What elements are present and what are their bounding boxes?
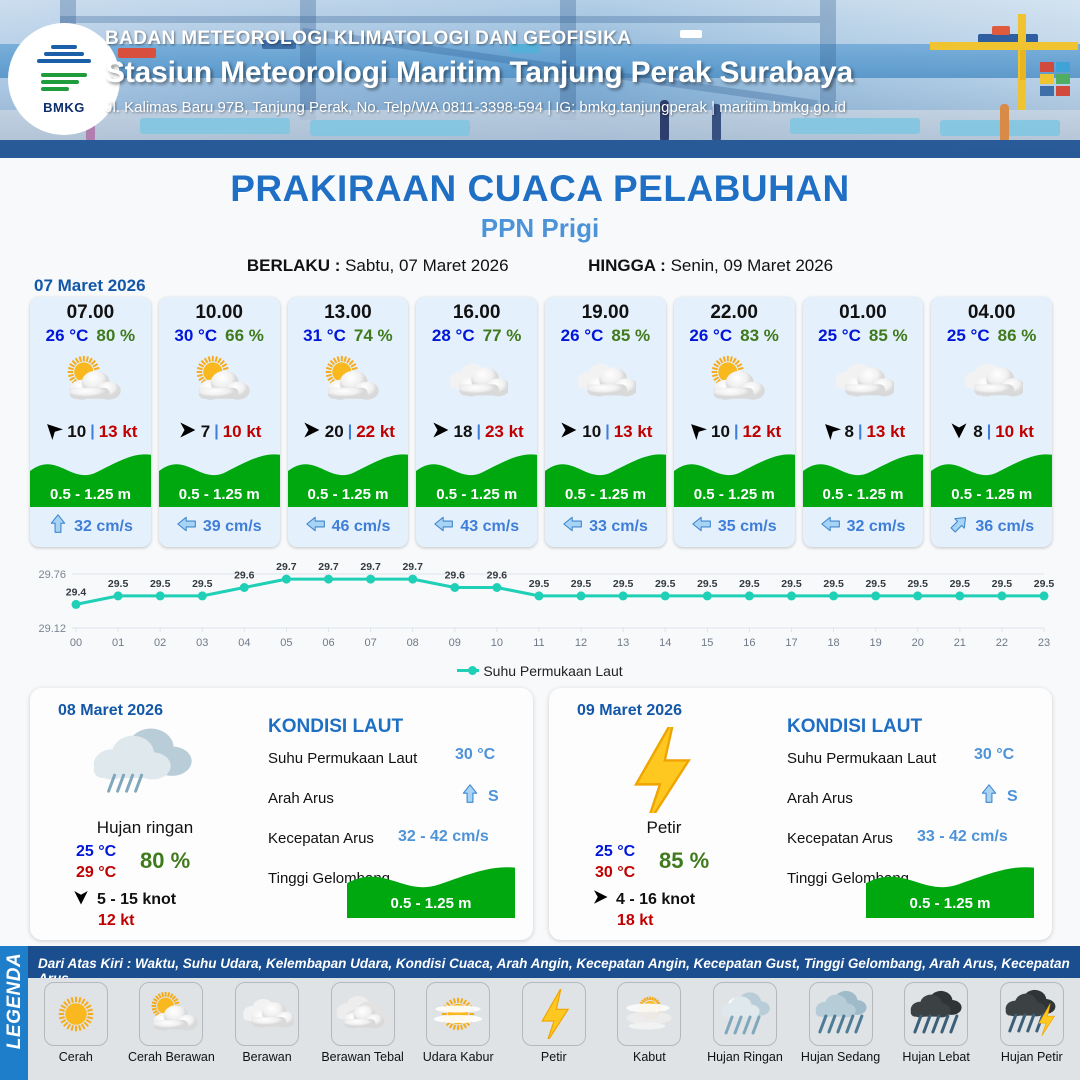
card-wind-speed: 20 bbox=[325, 422, 344, 442]
card-wave-height: 0.5 - 1.25 m bbox=[803, 486, 924, 503]
card-weather-cerah-berawan-icon bbox=[30, 350, 151, 412]
sea-row-label: Suhu Permukaan Laut bbox=[268, 750, 417, 767]
wind-direction-arrow-icon bbox=[177, 420, 197, 445]
header-container bbox=[1056, 86, 1070, 96]
svg-text:16: 16 bbox=[743, 637, 755, 649]
svg-text:15: 15 bbox=[701, 637, 713, 649]
svg-text:29.5: 29.5 bbox=[1034, 578, 1055, 590]
day-gust: 18 kt bbox=[617, 912, 653, 930]
card-temperature: 26 °C bbox=[46, 326, 89, 346]
header-seating bbox=[140, 118, 290, 134]
svg-text:29.7: 29.7 bbox=[318, 561, 339, 573]
day-current-direction-arrow-icon bbox=[979, 784, 999, 809]
svg-text:07: 07 bbox=[364, 637, 376, 649]
svg-text:22: 22 bbox=[996, 637, 1008, 649]
legend-berawan-tebal-icon bbox=[331, 982, 395, 1046]
card-weather-cerah-berawan-icon bbox=[674, 350, 795, 412]
legend-item[interactable]: Berawan bbox=[219, 982, 315, 1064]
svg-text:29.5: 29.5 bbox=[950, 578, 971, 590]
day-wave-height: 0.5 - 1.25 m bbox=[347, 895, 515, 912]
card-separator: | bbox=[476, 423, 480, 441]
header-person bbox=[1000, 104, 1009, 140]
sea-conditions-title: KONDISI LAUT bbox=[787, 716, 922, 738]
legend-hujan-lebat-icon bbox=[904, 982, 968, 1046]
card-wave-height: 0.5 - 1.25 m bbox=[416, 486, 537, 503]
legend-item-label: Hujan Ringan bbox=[707, 1050, 783, 1064]
legend-item[interactable]: Hujan Petir bbox=[984, 982, 1080, 1064]
legend-item-label: Udara Kabur bbox=[423, 1050, 494, 1064]
title-block: PRAKIRAAN CUACA PELABUHAN PPN Prigi BERL… bbox=[0, 168, 1080, 276]
svg-text:29.5: 29.5 bbox=[655, 578, 676, 590]
card-gust-speed: 10 kt bbox=[223, 422, 262, 442]
wind-direction-arrow-icon bbox=[821, 420, 841, 445]
card-current-speed: 33 cm/s bbox=[589, 518, 648, 536]
legend-item[interactable]: Kabut bbox=[602, 982, 698, 1064]
day-date: 09 Maret 2026 bbox=[577, 702, 682, 720]
card-time: 10.00 bbox=[159, 302, 280, 324]
legenda-sidebar-label: LEGENDA bbox=[4, 946, 26, 1056]
card-wave-height: 0.5 - 1.25 m bbox=[674, 486, 795, 503]
card-wind-speed: 10 bbox=[711, 422, 730, 442]
card-gust-speed: 22 kt bbox=[356, 422, 395, 442]
header-container bbox=[1040, 86, 1054, 96]
svg-text:09: 09 bbox=[449, 637, 461, 649]
legend-item-label: Cerah Berawan bbox=[128, 1050, 215, 1064]
forecast-card[interactable]: 01.00 25 °C 85 % 8 | 13 kt 0.5 bbox=[803, 297, 924, 547]
legend-item-label: Hujan Lebat bbox=[902, 1050, 969, 1064]
legend-item[interactable]: Udara Kabur bbox=[410, 982, 506, 1064]
bmkg-logo-leaf-icon bbox=[37, 72, 91, 98]
card-weather-berawan-icon bbox=[803, 350, 924, 412]
svg-text:08: 08 bbox=[407, 637, 419, 649]
svg-text:29.5: 29.5 bbox=[697, 578, 718, 590]
sea-row-label: Arah Arus bbox=[268, 790, 334, 807]
card-time: 04.00 bbox=[931, 302, 1052, 324]
day-temp-min: 25 °C bbox=[76, 843, 116, 861]
card-wind-speed: 10 bbox=[582, 422, 601, 442]
day-condition: Petir bbox=[569, 818, 759, 838]
header-seating bbox=[790, 118, 920, 134]
current-direction-arrow-icon bbox=[306, 514, 326, 539]
card-wind-speed: 8 bbox=[845, 422, 854, 442]
chart-legend: Suhu Permukaan Laut bbox=[0, 662, 1080, 680]
card-separator: | bbox=[90, 423, 94, 441]
card-wave-height: 0.5 - 1.25 m bbox=[545, 486, 666, 503]
card-separator: | bbox=[734, 423, 738, 441]
current-direction-arrow-icon bbox=[563, 514, 583, 539]
card-time: 22.00 bbox=[674, 302, 795, 324]
card-temperature: 25 °C bbox=[818, 326, 861, 346]
card-gust-speed: 23 kt bbox=[485, 422, 524, 442]
day-wind-direction-arrow-icon bbox=[72, 888, 90, 911]
wind-direction-arrow-icon bbox=[301, 420, 321, 445]
header-container bbox=[1040, 74, 1054, 84]
svg-text:29.5: 29.5 bbox=[192, 578, 213, 590]
bmkg-logo: BMKG bbox=[8, 23, 120, 135]
header-floor-band bbox=[0, 140, 1080, 158]
card-weather-cerah-berawan-icon bbox=[159, 350, 280, 412]
hourly-forecast-row: 07.00 26 °C 80 % 10 | 13 kt 0.5 - 1.25 m bbox=[30, 297, 1052, 547]
sea-temperature-chart: 29.7629.12000102030405060708091011121314… bbox=[18, 556, 1062, 656]
day-forecast-panel[interactable]: 09 Maret 2026 Petir 25 °C 30 °C 85 % 4 -… bbox=[549, 688, 1052, 940]
berlaku-value: Sabtu, 07 Maret 2026 bbox=[345, 256, 509, 275]
card-gust-speed: 13 kt bbox=[99, 422, 138, 442]
forecast-card[interactable]: 16.00 28 °C 77 % 18 | 23 kt 0.5 bbox=[416, 297, 537, 547]
forecast-card[interactable]: 07.00 26 °C 80 % 10 | 13 kt 0.5 - 1.25 m bbox=[30, 297, 151, 547]
svg-text:29.5: 29.5 bbox=[571, 578, 592, 590]
card-humidity: 66 % bbox=[225, 326, 264, 346]
legend-item[interactable]: Cerah bbox=[28, 982, 124, 1064]
forecast-card[interactable]: 13.00 31 °C 74 % 20 | 22 kt 0.5 - 1.25 m bbox=[288, 297, 409, 547]
card-time: 16.00 bbox=[416, 302, 537, 324]
card-humidity: 74 % bbox=[354, 326, 393, 346]
svg-text:29.5: 29.5 bbox=[150, 578, 171, 590]
day-wave-height: 0.5 - 1.25 m bbox=[866, 895, 1034, 912]
svg-text:20: 20 bbox=[912, 637, 924, 649]
card-current-speed: 43 cm/s bbox=[460, 518, 519, 536]
card-time: 13.00 bbox=[288, 302, 409, 324]
card-separator: | bbox=[348, 423, 352, 441]
header-container bbox=[1056, 74, 1070, 84]
day-wind-range: 5 - 15 knot bbox=[97, 891, 176, 909]
svg-text:11: 11 bbox=[533, 637, 544, 649]
card-temperature: 25 °C bbox=[947, 326, 990, 346]
current-direction-arrow-icon bbox=[692, 514, 712, 539]
chart-canvas: 29.7629.12000102030405060708091011121314… bbox=[18, 556, 1062, 656]
day-weather-petir-icon bbox=[595, 724, 725, 816]
card-humidity: 85 % bbox=[869, 326, 908, 346]
svg-text:29.7: 29.7 bbox=[402, 561, 423, 573]
day-wind-direction-arrow-icon bbox=[591, 888, 609, 911]
svg-text:29.6: 29.6 bbox=[234, 570, 255, 582]
day-temp-max: 29 °C bbox=[76, 864, 116, 882]
card-wind-speed: 10 bbox=[67, 422, 86, 442]
svg-text:29.4: 29.4 bbox=[66, 586, 87, 598]
legend-item-label: Hujan Sedang bbox=[801, 1050, 880, 1064]
day-temp-min: 25 °C bbox=[595, 843, 635, 861]
card-gust-speed: 13 kt bbox=[614, 422, 653, 442]
card-humidity: 83 % bbox=[740, 326, 779, 346]
card-time: 01.00 bbox=[803, 302, 924, 324]
card-current-speed: 46 cm/s bbox=[332, 518, 391, 536]
card-temperature: 31 °C bbox=[303, 326, 346, 346]
legend-cerah-berawan-icon bbox=[139, 982, 203, 1046]
legend-icon-row: Cerah Cerah Berawan Berawan bbox=[28, 978, 1080, 1080]
svg-text:29.5: 29.5 bbox=[613, 578, 634, 590]
card-humidity: 77 % bbox=[483, 326, 522, 346]
berlaku-label: BERLAKU : bbox=[247, 256, 341, 275]
svg-text:29.5: 29.5 bbox=[739, 578, 760, 590]
svg-text:29.12: 29.12 bbox=[38, 623, 66, 635]
day-wind-range: 4 - 16 knot bbox=[616, 891, 695, 909]
day-date: 08 Maret 2026 bbox=[58, 702, 163, 720]
wind-direction-arrow-icon bbox=[949, 420, 969, 445]
current-direction-arrow-icon bbox=[48, 514, 68, 539]
bmkg-logo-wave-icon bbox=[35, 43, 93, 69]
card-weather-cerah-berawan-icon bbox=[288, 350, 409, 412]
card-temperature: 26 °C bbox=[689, 326, 732, 346]
sea-conditions-title: KONDISI LAUT bbox=[268, 716, 403, 738]
legend-cerah-icon bbox=[44, 982, 108, 1046]
svg-text:29.5: 29.5 bbox=[823, 578, 844, 590]
card-gust-speed: 12 kt bbox=[742, 422, 781, 442]
sea-row-label: Kecepatan Arus bbox=[787, 830, 893, 847]
legend-item-label: Petir bbox=[541, 1050, 567, 1064]
wind-direction-arrow-icon bbox=[430, 420, 450, 445]
card-humidity: 86 % bbox=[998, 326, 1037, 346]
svg-text:23: 23 bbox=[1038, 637, 1050, 649]
current-direction-arrow-icon bbox=[434, 514, 454, 539]
card-time: 07.00 bbox=[30, 302, 151, 324]
legend-hujan-sedang-icon bbox=[809, 982, 873, 1046]
svg-text:05: 05 bbox=[280, 637, 292, 649]
header-text-block: BADAN METEOROLOGI KLIMATOLOGI DAN GEOFIS… bbox=[105, 28, 853, 116]
header-container bbox=[992, 26, 1010, 35]
card-current-speed: 32 cm/s bbox=[847, 518, 906, 536]
forecast-card[interactable]: 04.00 25 °C 86 % 8 | 10 kt 0.5 bbox=[931, 297, 1052, 547]
agency-name: BADAN METEOROLOGI KLIMATOLOGI DAN GEOFIS… bbox=[105, 28, 853, 50]
card-current-speed: 36 cm/s bbox=[975, 518, 1034, 536]
day-humidity: 85 % bbox=[659, 848, 709, 874]
card-gust-speed: 13 kt bbox=[866, 422, 905, 442]
header-container bbox=[1056, 62, 1070, 72]
current-direction-arrow-icon bbox=[821, 514, 841, 539]
header-crane-cable bbox=[1020, 50, 1026, 80]
card-humidity: 80 % bbox=[96, 326, 135, 346]
card-weather-berawan-icon bbox=[931, 350, 1052, 412]
legend-item[interactable]: Cerah Berawan bbox=[124, 982, 220, 1064]
station-name: Stasiun Meteorologi Maritim Tanjung Pera… bbox=[105, 56, 853, 90]
wind-direction-arrow-icon bbox=[43, 420, 63, 445]
svg-text:04: 04 bbox=[238, 637, 250, 649]
forecast-date-label: 07 Maret 2026 bbox=[34, 276, 146, 296]
card-weather-berawan-icon bbox=[416, 350, 537, 412]
card-wind-speed: 18 bbox=[454, 422, 473, 442]
forecast-card[interactable]: 22.00 26 °C 83 % 10 | 12 kt 0.5 - 1.25 m bbox=[674, 297, 795, 547]
svg-text:17: 17 bbox=[785, 637, 797, 649]
day-weather-hujan-ringan-icon bbox=[76, 724, 206, 816]
svg-text:18: 18 bbox=[827, 637, 839, 649]
day-forecast-panel[interactable]: 08 Maret 2026 Hujan ringan 25 °C 29 °C 8… bbox=[30, 688, 533, 940]
header-crane-arm bbox=[930, 42, 1078, 50]
svg-text:29.6: 29.6 bbox=[445, 570, 466, 582]
wind-direction-arrow-icon bbox=[687, 420, 707, 445]
current-direction-value: S bbox=[1007, 788, 1018, 806]
card-current-speed: 32 cm/s bbox=[74, 518, 133, 536]
svg-text:10: 10 bbox=[491, 637, 503, 649]
validity-range: BERLAKU : Sabtu, 07 Maret 2026 HINGGA : … bbox=[0, 256, 1080, 276]
sea-row-label: Arah Arus bbox=[787, 790, 853, 807]
svg-text:13: 13 bbox=[617, 637, 629, 649]
card-wave-height: 0.5 - 1.25 m bbox=[30, 486, 151, 503]
svg-text:29.5: 29.5 bbox=[992, 578, 1013, 590]
legend-item-label: Berawan bbox=[242, 1050, 291, 1064]
header-beam bbox=[60, 16, 820, 23]
card-separator: | bbox=[987, 423, 991, 441]
card-wave-height: 0.5 - 1.25 m bbox=[931, 486, 1052, 503]
card-gust-speed: 10 kt bbox=[995, 422, 1034, 442]
current-speed-value: 33 - 42 cm/s bbox=[917, 828, 1008, 846]
day-condition: Hujan ringan bbox=[50, 818, 240, 838]
legend-kabut-icon bbox=[617, 982, 681, 1046]
current-direction-arrow-icon bbox=[177, 514, 197, 539]
current-direction-arrow-icon bbox=[949, 514, 969, 539]
svg-text:29.76: 29.76 bbox=[38, 569, 66, 581]
day-gust: 12 kt bbox=[98, 912, 134, 930]
legend-hujan-ringan-icon bbox=[713, 982, 777, 1046]
svg-text:29.5: 29.5 bbox=[529, 578, 550, 590]
svg-text:14: 14 bbox=[659, 637, 671, 649]
svg-text:29.5: 29.5 bbox=[781, 578, 802, 590]
card-time: 19.00 bbox=[545, 302, 666, 324]
card-separator: | bbox=[605, 423, 609, 441]
card-weather-berawan-icon bbox=[545, 350, 666, 412]
hingga-value: Senin, 09 Maret 2026 bbox=[671, 256, 834, 275]
legend-hujan-petir-icon bbox=[1000, 982, 1064, 1046]
card-separator: | bbox=[214, 423, 218, 441]
sea-surface-temp-value: 30 °C bbox=[974, 746, 1014, 764]
card-wave-height: 0.5 - 1.25 m bbox=[159, 486, 280, 503]
card-current-speed: 39 cm/s bbox=[203, 518, 262, 536]
chart-legend-label: Suhu Permukaan Laut bbox=[483, 663, 622, 679]
current-speed-value: 32 - 42 cm/s bbox=[398, 828, 489, 846]
svg-text:21: 21 bbox=[954, 637, 966, 649]
card-temperature: 26 °C bbox=[561, 326, 604, 346]
legend-item[interactable]: Hujan Sedang bbox=[793, 982, 889, 1064]
card-wind-speed: 8 bbox=[973, 422, 982, 442]
legend-item[interactable]: Hujan Ringan bbox=[697, 982, 793, 1064]
header-container bbox=[1040, 62, 1054, 72]
sea-row-label: Suhu Permukaan Laut bbox=[787, 750, 936, 767]
svg-text:29.5: 29.5 bbox=[907, 578, 928, 590]
day-temp-max: 30 °C bbox=[595, 864, 635, 882]
svg-text:29.6: 29.6 bbox=[487, 570, 508, 582]
card-temperature: 30 °C bbox=[174, 326, 217, 346]
legend-item-label: Kabut bbox=[633, 1050, 666, 1064]
svg-text:06: 06 bbox=[322, 637, 334, 649]
svg-text:19: 19 bbox=[870, 637, 882, 649]
sea-surface-temp-value: 30 °C bbox=[455, 746, 495, 764]
day-current-direction-arrow-icon bbox=[460, 784, 480, 809]
forecast-card[interactable]: 10.00 30 °C 66 % 7 | 10 kt 0.5 - 1.25 m bbox=[159, 297, 280, 547]
svg-text:12: 12 bbox=[575, 637, 587, 649]
card-current-speed: 35 cm/s bbox=[718, 518, 777, 536]
svg-text:29.7: 29.7 bbox=[360, 561, 381, 573]
page-header: BMKG BADAN METEOROLOGI KLIMATOLOGI DAN G… bbox=[0, 0, 1080, 158]
contact-line: Jl. Kalimas Baru 97B, Tanjung Perak, No.… bbox=[105, 99, 853, 116]
legend-item[interactable]: Petir bbox=[506, 982, 602, 1064]
day-humidity: 80 % bbox=[140, 848, 190, 874]
card-temperature: 28 °C bbox=[432, 326, 475, 346]
wind-direction-arrow-icon bbox=[558, 420, 578, 445]
current-direction-value: S bbox=[488, 788, 499, 806]
card-separator: | bbox=[858, 423, 862, 441]
sea-row-label: Kecepatan Arus bbox=[268, 830, 374, 847]
legend-item-label: Berawan Tebal bbox=[321, 1050, 403, 1064]
svg-text:00: 00 bbox=[70, 637, 82, 649]
svg-text:29.7: 29.7 bbox=[276, 561, 297, 573]
svg-text:02: 02 bbox=[154, 637, 166, 649]
legend-item[interactable]: Hujan Lebat bbox=[888, 982, 984, 1064]
legend-item-label: Hujan Petir bbox=[1001, 1050, 1063, 1064]
svg-text:29.5: 29.5 bbox=[108, 578, 129, 590]
svg-text:03: 03 bbox=[196, 637, 208, 649]
card-humidity: 85 % bbox=[611, 326, 650, 346]
daily-forecast-panels: 08 Maret 2026 Hujan ringan 25 °C 29 °C 8… bbox=[30, 688, 1052, 940]
svg-text:01: 01 bbox=[112, 637, 124, 649]
bmkg-logo-text: BMKG bbox=[43, 100, 85, 115]
port-name: PPN Prigi bbox=[0, 213, 1080, 244]
header-seating bbox=[310, 120, 470, 136]
hingga-label: HINGGA : bbox=[588, 256, 666, 275]
legend-item[interactable]: Berawan Tebal bbox=[315, 982, 411, 1064]
card-wind-speed: 7 bbox=[201, 422, 210, 442]
legend-petir-icon bbox=[522, 982, 586, 1046]
page-title: PRAKIRAAN CUACA PELABUHAN bbox=[0, 168, 1080, 210]
legend-udara-kabur-icon bbox=[426, 982, 490, 1046]
legend-berawan-icon bbox=[235, 982, 299, 1046]
svg-text:29.5: 29.5 bbox=[865, 578, 886, 590]
card-wave-height: 0.5 - 1.25 m bbox=[288, 486, 409, 503]
legend-item-label: Cerah bbox=[59, 1050, 93, 1064]
legend-dot-swatch bbox=[468, 666, 477, 675]
forecast-card[interactable]: 19.00 26 °C 85 % 10 | 13 kt 0.5 bbox=[545, 297, 666, 547]
